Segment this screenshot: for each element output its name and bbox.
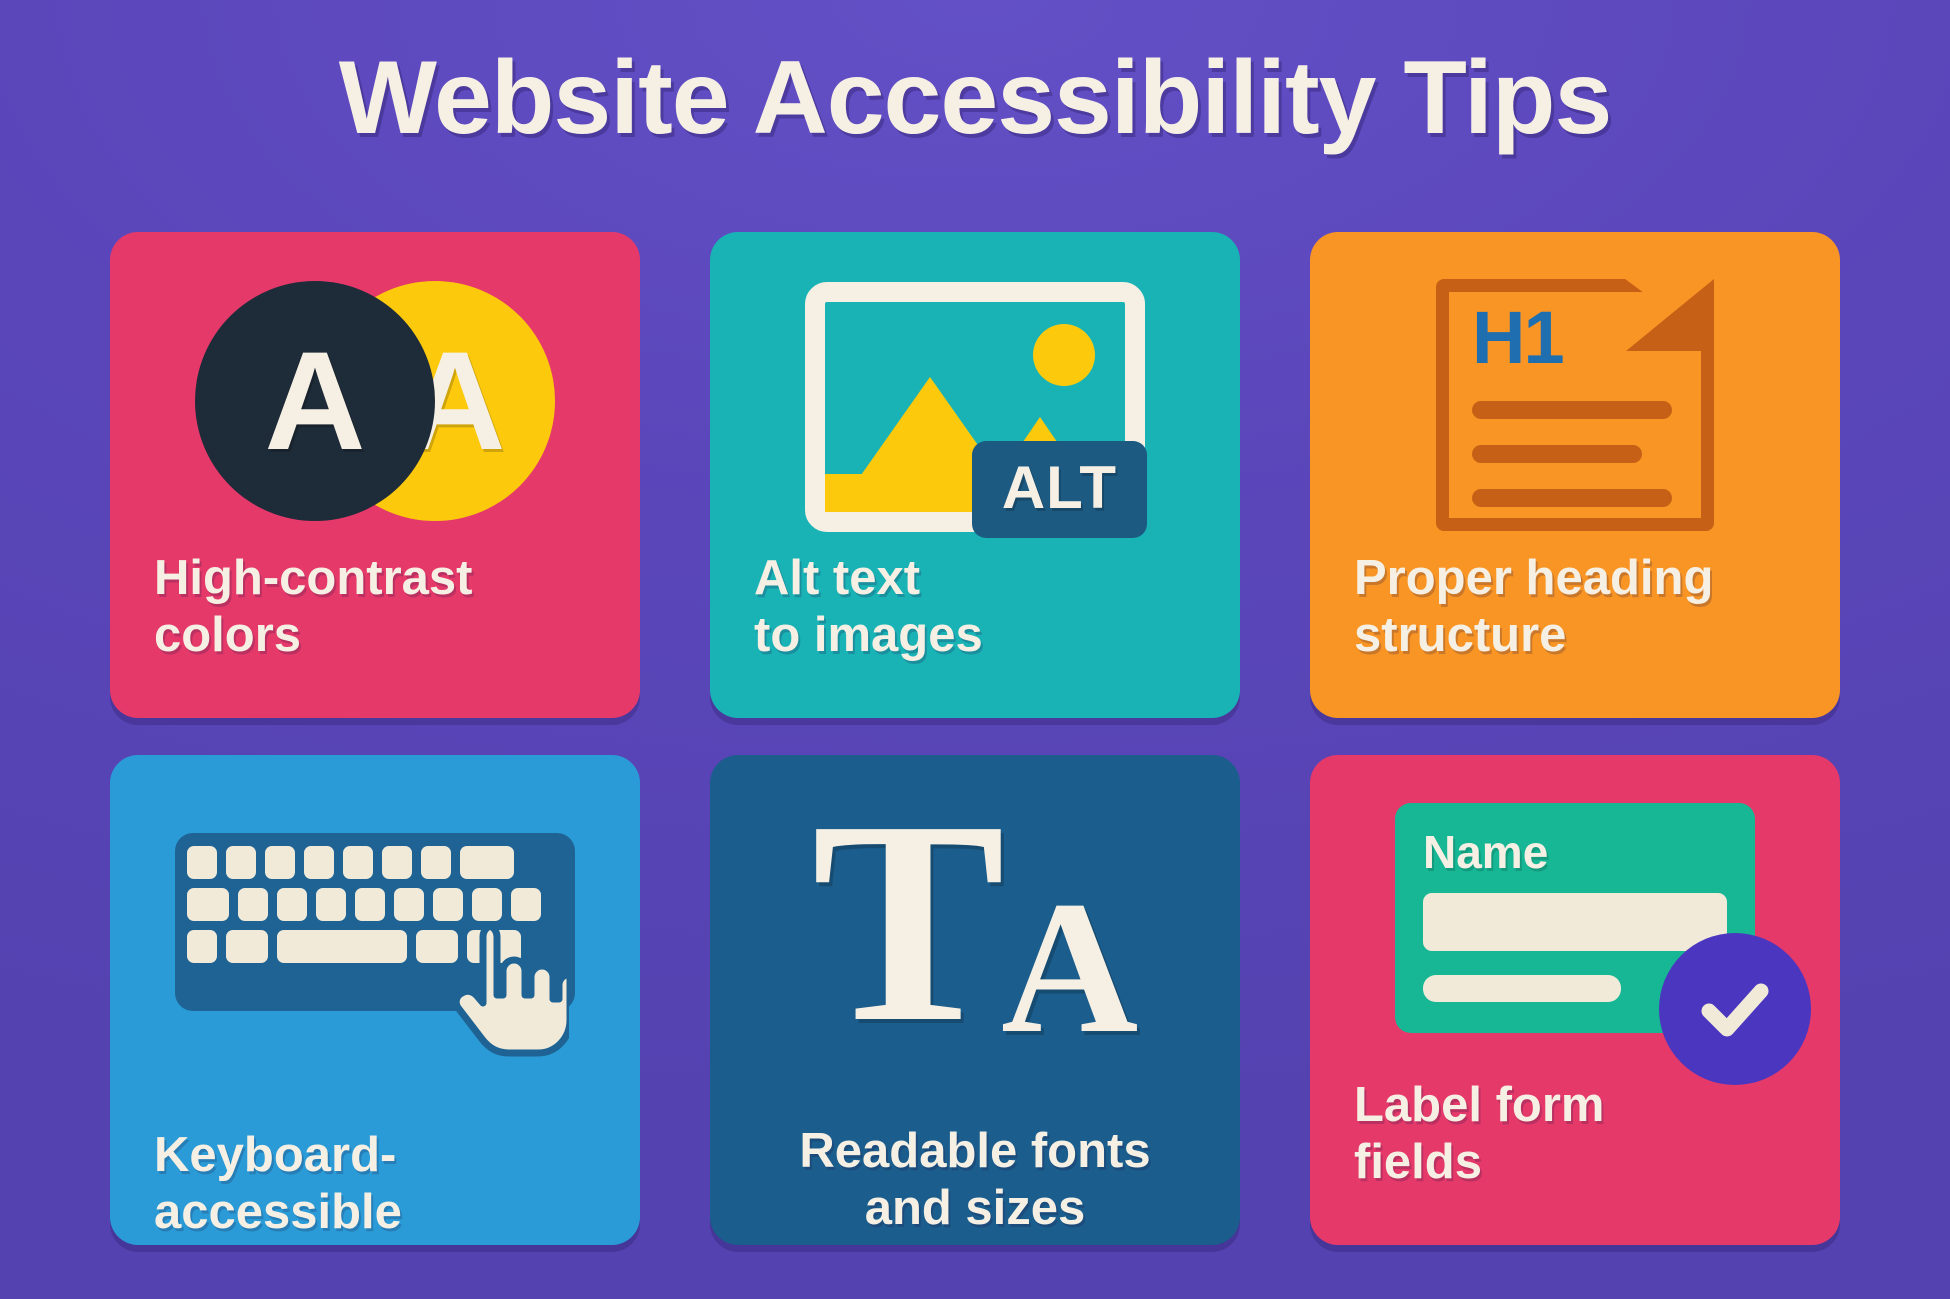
contrast-dark-circle: A <box>195 281 435 521</box>
pointing-hand-cursor-icon <box>449 921 569 1059</box>
keyboard-key <box>394 888 424 921</box>
keyboard-key <box>382 846 412 879</box>
document-fold-corner <box>1626 279 1714 351</box>
keyboard-key <box>343 846 373 879</box>
serif-letter-big: T <box>812 789 1005 1056</box>
serif-letters-icon: T A <box>710 777 1240 1067</box>
alt-badge: ALT <box>972 441 1147 538</box>
keyboard-key <box>187 846 217 879</box>
tip-label-high-contrast-colors: High-contrast colors <box>154 550 616 665</box>
keyboard-key <box>187 888 229 921</box>
keyboard-key <box>304 846 334 879</box>
keyboard-key <box>187 930 217 963</box>
form-secondary-line <box>1423 975 1621 1002</box>
tip-card-proper-heading-structure[interactable]: H1 Proper heading structure <box>1310 232 1840 718</box>
keyboard-key <box>355 888 385 921</box>
tip-card-keyboard-accessible[interactable]: Keyboard- accessible <box>110 755 640 1245</box>
keyboard-key <box>238 888 268 921</box>
tip-label-keyboard-accessible: Keyboard- accessible <box>154 1127 616 1242</box>
form-field-label: Name <box>1423 829 1727 875</box>
check-circle-badge <box>1659 933 1811 1085</box>
document-h1-icon: H1 <box>1310 270 1840 540</box>
keyboard-key <box>421 846 451 879</box>
keyboard-key <box>265 846 295 879</box>
tip-label-proper-heading-structure: Proper heading structure <box>1354 550 1816 665</box>
keyboard-hand-icon <box>110 803 640 1093</box>
infographic-poster: Website Accessibility Tips A A High-cont… <box>0 0 1950 1299</box>
keyboard-key <box>472 888 502 921</box>
form-input-box[interactable] <box>1423 893 1727 951</box>
tip-card-label-form-fields[interactable]: Name Label form fields <box>1310 755 1840 1245</box>
tip-card-high-contrast-colors[interactable]: A A High-contrast colors <box>110 232 640 718</box>
document-text-line <box>1472 489 1672 507</box>
document-text-line <box>1472 445 1642 463</box>
keyboard-spacebar <box>277 930 407 963</box>
keyboard-key <box>433 888 463 921</box>
page-title: Website Accessibility Tips <box>0 44 1950 153</box>
checkmark-icon <box>1689 963 1781 1055</box>
image-alt-badge-icon: ALT <box>710 272 1240 542</box>
keyboard-key <box>277 888 307 921</box>
tip-label-readable-fonts-and-sizes: Readable fonts and sizes <box>710 1123 1240 1238</box>
keyboard-key <box>511 888 541 921</box>
tip-card-readable-fonts-and-sizes[interactable]: T A Readable fonts and sizes <box>710 755 1240 1245</box>
keyboard-key <box>316 888 346 921</box>
keyboard-row <box>187 888 563 921</box>
form-card-shape: Name <box>1395 803 1755 1033</box>
keyboard-key <box>226 846 256 879</box>
form-field-check-icon: Name <box>1310 793 1840 1043</box>
keyboard-key <box>460 846 514 879</box>
serif-letter-small: A <box>1001 881 1138 1056</box>
tip-label-alt-text-to-images: Alt text to images <box>754 550 1216 665</box>
keyboard-row <box>187 846 563 879</box>
sun-shape <box>1033 324 1095 386</box>
tip-card-alt-text-to-images[interactable]: ALT Alt text to images <box>710 232 1240 718</box>
tip-label-label-form-fields: Label form fields <box>1354 1077 1816 1192</box>
contrast-letters-icon: A A <box>110 276 640 526</box>
heading-h1-text: H1 <box>1472 301 1563 375</box>
image-frame: ALT <box>805 282 1145 532</box>
tips-grid: A A High-contrast colors ALT Alt text to… <box>110 232 1840 1245</box>
document-text-line <box>1472 401 1672 419</box>
keyboard-key <box>226 930 268 963</box>
